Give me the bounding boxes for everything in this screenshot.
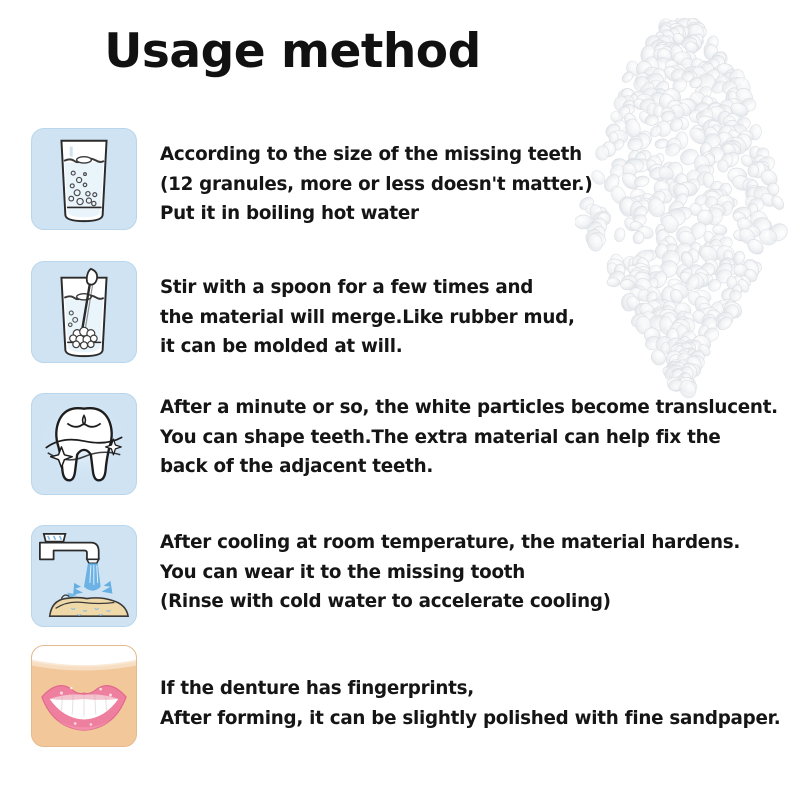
smiling-mouth-icon [31,645,137,747]
glass-of-boiling-water-icon [31,128,137,230]
step-line: Put it in boiling hot water [160,199,592,229]
usage-method-infographic: Usage method [0,0,800,800]
shiny-tooth-icon [31,393,137,495]
step-line: After cooling at room temperature, the m… [160,528,740,558]
step-line: If the denture has fingerprints, [160,674,780,704]
step-line: (12 granules, more or less doesn't matte… [160,170,592,200]
step-text: After cooling at room temperature, the m… [160,528,740,617]
step-text: After a minute or so, the white particle… [160,393,778,482]
step-text: According to the size of the missing tee… [160,140,592,229]
glass-with-spoon-stirring-icon [31,261,137,363]
step-line: (Rinse with cold water to accelerate coo… [160,587,740,617]
step-line: You can wear it to the missing tooth [160,558,740,588]
step-line: According to the size of the missing tee… [160,140,592,170]
step-line: it can be molded at will. [160,332,575,362]
step-line: You can shape teeth.The extra material c… [160,423,778,453]
step-line: Stir with a spoon for a few times and [160,273,575,303]
step-line: After forming, it can be slightly polish… [160,704,780,734]
page-title: Usage method [0,26,800,78]
step-line: the material will merge.Like rubber mud, [160,303,575,333]
step-text: If the denture has fingerprints, After f… [160,674,780,733]
faucet-washing-hands-icon [31,525,137,627]
step-line: back of the adjacent teeth. [160,452,778,482]
step-text: Stir with a spoon for a few times and th… [160,273,575,362]
step-line: After a minute or so, the white particle… [160,393,778,423]
